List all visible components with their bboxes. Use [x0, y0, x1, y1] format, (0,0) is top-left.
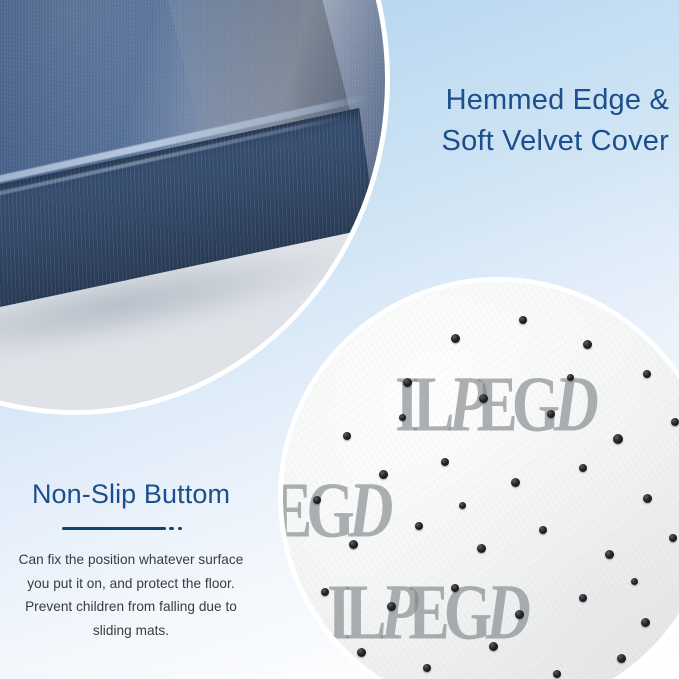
anti-slip-dot — [643, 494, 652, 503]
anti-slip-dot — [489, 642, 498, 651]
anti-slip-dot — [539, 526, 547, 534]
anti-slip-dot — [343, 432, 351, 440]
anti-slip-dot — [511, 478, 520, 487]
anti-slip-dot — [617, 654, 626, 663]
anti-slip-dot — [671, 418, 679, 426]
anti-slip-dot — [583, 340, 592, 349]
anti-slip-dot — [479, 394, 488, 403]
feature-block: Non-Slip Buttom Can fix the position wha… — [0, 478, 262, 642]
anti-slip-dot — [641, 618, 650, 627]
anti-slip-dot — [567, 374, 574, 381]
anti-slip-dot — [579, 464, 587, 472]
product-feature-infographic: ILPEGD EGD ILPEGD Hemmed Edge & Soft Vel… — [0, 0, 679, 679]
anti-slip-dot — [547, 410, 555, 418]
anti-slip-dot — [519, 316, 527, 324]
anti-slip-dot — [403, 378, 412, 387]
anti-slip-dot — [321, 588, 329, 596]
anti-slip-dot — [643, 370, 651, 378]
heading-line-1: Hemmed Edge & — [249, 80, 669, 121]
anti-slip-dot — [579, 594, 587, 602]
anti-slip-dot — [313, 496, 321, 504]
anti-slip-dot — [613, 434, 623, 444]
anti-slip-dot — [477, 544, 486, 553]
anti-slip-dot — [357, 648, 366, 657]
feature-body: Can fix the position whatever surface yo… — [0, 548, 262, 642]
anti-slip-dot — [669, 534, 677, 542]
divider-dash-2 — [178, 527, 182, 530]
anti-slip-dot — [379, 470, 388, 479]
anti-slip-dot — [451, 584, 459, 592]
anti-slip-dot — [631, 578, 638, 585]
mat-scene: ILPEGD EGD ILPEGD — [283, 282, 679, 679]
anti-slip-dot — [387, 602, 396, 611]
anti-slip-dot — [451, 334, 460, 343]
mat-photo-circle: ILPEGD EGD ILPEGD — [283, 282, 679, 679]
anti-slip-dot — [515, 610, 524, 619]
feature-divider — [0, 522, 262, 534]
divider-rule — [62, 527, 166, 530]
anti-slip-dot — [399, 414, 406, 421]
anti-slip-dot — [553, 670, 561, 678]
anti-slip-dot — [349, 540, 358, 549]
anti-slip-dot — [459, 502, 466, 509]
anti-slip-dot — [441, 458, 449, 466]
anti-slip-dot — [423, 664, 431, 672]
anti-slip-dot — [605, 550, 614, 559]
heading-block: Hemmed Edge & Soft Velvet Cover — [249, 80, 669, 162]
divider-dash-1 — [169, 527, 174, 530]
feature-title: Non-Slip Buttom — [0, 478, 262, 510]
anti-slip-dot-layer — [283, 282, 679, 679]
anti-slip-dot — [415, 522, 423, 530]
heading-line-2: Soft Velvet Cover — [249, 121, 669, 162]
